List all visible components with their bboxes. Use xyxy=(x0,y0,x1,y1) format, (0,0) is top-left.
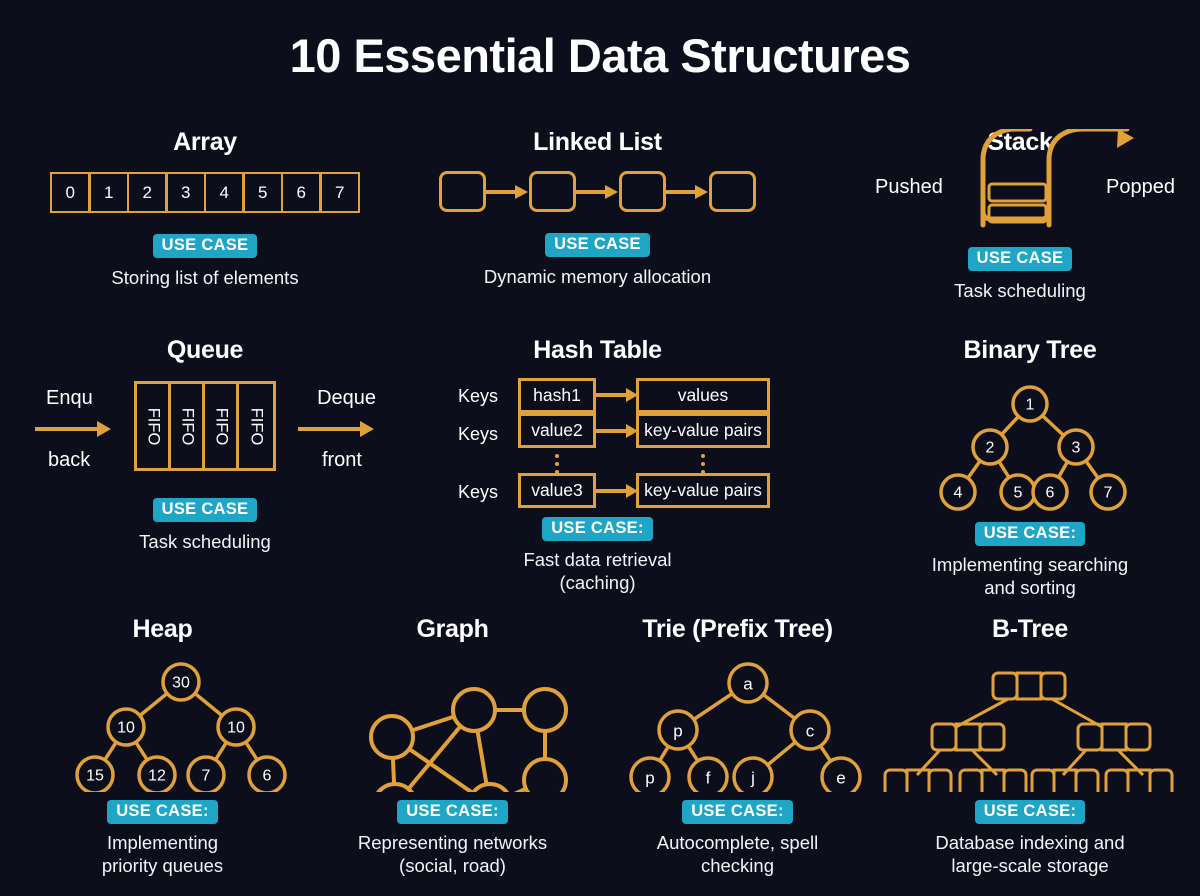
card-stack: Stack Pushed Popped USE CASE Task schedu… xyxy=(845,128,1195,302)
page-title: 10 Essential Data Structures xyxy=(0,28,1200,83)
usecase-desc-trie-1: Autocomplete, spell xyxy=(600,831,875,854)
heap-node-label: 12 xyxy=(148,768,166,785)
binary-tree-diagram: 1 2 3 4 5 6 7 xyxy=(860,379,1200,514)
array-diagram: 0 1 2 3 4 5 6 7 xyxy=(10,172,400,213)
card-title-hash-table: Hash Table xyxy=(400,336,795,365)
card-heap: Heap 30 10 10 xyxy=(20,615,305,877)
graph-diagram xyxy=(310,657,595,792)
trie-node-label: c xyxy=(805,722,814,741)
graph-node xyxy=(453,689,495,731)
card-array: Array 0 1 2 3 4 5 6 7 USE CASE Storing l… xyxy=(10,128,400,289)
stack-label-pushed: Pushed xyxy=(875,176,943,199)
heap-node-label: 10 xyxy=(117,720,135,737)
linked-list-node xyxy=(529,171,576,212)
linked-list-diagram xyxy=(400,171,795,212)
usecase-desc-binary-tree-2: and sorting xyxy=(860,576,1200,599)
btree-node-root xyxy=(993,673,1065,699)
trie-node-label: a xyxy=(743,675,753,694)
queue-cell: FIFO xyxy=(137,384,171,468)
usecase-wrap-binary-tree: USE CASE: xyxy=(860,522,1200,546)
usecase-desc-graph-1: Representing networks xyxy=(310,831,595,854)
hash-key-label: Keys xyxy=(458,386,498,407)
usecase-desc-linked-list: Dynamic memory allocation xyxy=(400,265,795,288)
stack-plate xyxy=(989,184,1046,201)
card-binary-tree: Binary Tree 1 2 3 xyxy=(860,336,1200,599)
queue-cell: FIFO xyxy=(239,384,273,468)
arrow-right-icon xyxy=(576,185,619,199)
queue-cell: FIFO xyxy=(171,384,205,468)
card-queue: Queue FIFO FIFO FIFO FIFO Enqu back Dequ… xyxy=(10,336,400,553)
stack-label-popped: Popped xyxy=(1106,176,1175,199)
card-title-heap: Heap xyxy=(20,615,305,644)
heap-node-label: 30 xyxy=(172,675,190,692)
usecase-desc-heap-1: Implementing xyxy=(20,831,305,854)
array-cell: 5 xyxy=(242,172,283,213)
tree-node-label: 1 xyxy=(1026,397,1035,414)
btree-node-leaf xyxy=(960,770,1026,792)
usecase-wrap-btree: USE CASE: xyxy=(880,800,1180,824)
linked-list-node xyxy=(439,171,486,212)
binary-tree-svg: 1 2 3 4 5 6 7 xyxy=(900,379,1160,514)
hash-key-label: Keys xyxy=(458,424,498,445)
trie-node-label: j xyxy=(750,769,755,788)
graph-node xyxy=(524,689,566,731)
card-graph: Graph xyxy=(310,615,595,877)
btree-diagram xyxy=(880,657,1180,792)
card-trie: Trie (Prefix Tree) a p xyxy=(600,615,875,877)
queue-diagram: FIFO FIFO FIFO FIFO Enqu back Deque fron… xyxy=(10,381,400,481)
linked-list-node xyxy=(619,171,666,212)
linked-list-row xyxy=(400,171,795,212)
array-cell: 2 xyxy=(127,172,168,213)
usecase-desc-queue: Task scheduling xyxy=(10,530,400,553)
tree-node-label: 2 xyxy=(986,440,995,457)
hash-key-box: value3 xyxy=(518,473,596,508)
array-cell: 6 xyxy=(281,172,322,213)
usecase-wrap-graph: USE CASE: xyxy=(310,800,595,824)
card-title-trie: Trie (Prefix Tree) xyxy=(600,615,875,644)
trie-node-label: p xyxy=(645,769,654,788)
ellipsis-vertical-icon xyxy=(555,454,559,478)
hash-key-label: Keys xyxy=(458,482,498,503)
hash-value-box: key-value pairs xyxy=(636,473,770,508)
array-cell: 1 xyxy=(88,172,129,213)
stack-diagram: Pushed Popped xyxy=(845,129,1195,234)
linked-list-node xyxy=(709,171,756,212)
hash-value-box: values xyxy=(636,378,770,413)
trie-diagram: a p c p f j e xyxy=(600,657,875,792)
queue-label-back: back xyxy=(48,449,90,472)
status-badge: USE CASE: xyxy=(975,522,1086,546)
array-cell: 4 xyxy=(204,172,245,213)
usecase-desc-graph-2: (social, road) xyxy=(310,854,595,877)
card-title-graph: Graph xyxy=(310,615,595,644)
queue-cell-label: FIFO xyxy=(211,407,230,445)
usecase-wrap-array: USE CASE xyxy=(10,234,400,258)
usecase-wrap-heap: USE CASE: xyxy=(20,800,305,824)
usecase-desc-array: Storing list of elements xyxy=(10,266,400,289)
status-badge: USE CASE xyxy=(153,498,258,522)
tree-node-label: 7 xyxy=(1104,485,1113,502)
infographic-page: 10 Essential Data Structures Array 0 1 2… xyxy=(0,0,1200,896)
usecase-desc-heap-2: priority queues xyxy=(20,854,305,877)
array-cell: 3 xyxy=(165,172,206,213)
queue-box: FIFO FIFO FIFO FIFO xyxy=(134,381,276,471)
status-badge: USE CASE: xyxy=(542,517,653,541)
btree-svg xyxy=(880,657,1180,792)
queue-cell-label: FIFO xyxy=(177,407,196,445)
status-badge: USE CASE xyxy=(545,233,650,257)
ellipsis-vertical-icon xyxy=(701,454,705,478)
queue-label-front: front xyxy=(322,449,362,472)
status-badge: USE CASE xyxy=(153,234,258,258)
hash-key-box: hash1 xyxy=(518,378,596,413)
graph-node xyxy=(469,784,511,792)
array-cell: 0 xyxy=(50,172,91,213)
arrow-right-icon xyxy=(298,421,376,437)
usecase-desc-btree-1: Database indexing and xyxy=(880,831,1180,854)
status-badge: USE CASE xyxy=(968,247,1073,271)
array-cell: 7 xyxy=(319,172,360,213)
status-badge: USE CASE: xyxy=(975,800,1086,824)
usecase-desc-btree-2: large-scale storage xyxy=(880,854,1180,877)
tree-node-label: 6 xyxy=(1046,485,1055,502)
heap-node-label: 7 xyxy=(201,768,210,785)
queue-cell: FIFO xyxy=(205,384,239,468)
trie-node-label: e xyxy=(836,769,845,788)
queue-label-dequeue: Deque xyxy=(317,387,376,410)
queue-cell-label: FIFO xyxy=(143,407,162,445)
card-title-binary-tree: Binary Tree xyxy=(860,336,1200,365)
status-badge: USE CASE: xyxy=(397,800,508,824)
btree-node-internal xyxy=(932,724,1004,750)
heap-diagram: 30 10 10 15 12 7 6 xyxy=(20,657,305,792)
usecase-desc-trie-2: checking xyxy=(600,854,875,877)
card-title-linked-list: Linked List xyxy=(400,128,795,157)
tree-node-label: 3 xyxy=(1072,440,1081,457)
arrow-right-icon xyxy=(596,388,638,402)
arrow-right-icon xyxy=(596,484,638,498)
graph-node xyxy=(524,759,566,792)
arrow-right-icon xyxy=(666,185,709,199)
card-btree: B-Tree xyxy=(880,615,1180,877)
card-linked-list: Linked List USE CASE Dynamic memory allo… xyxy=(400,128,795,288)
usecase-wrap-linked-list: USE CASE xyxy=(400,233,795,257)
heap-node-label: 10 xyxy=(227,720,245,737)
hash-table-diagram: Keys Keys Keys hash1 value2 value3 value… xyxy=(400,377,795,509)
trie-svg: a p c p f j e xyxy=(613,657,863,792)
queue-label-enqueue: Enqu xyxy=(46,387,93,410)
status-badge: USE CASE: xyxy=(107,800,218,824)
arrow-right-icon xyxy=(596,424,638,438)
usecase-wrap-queue: USE CASE xyxy=(10,498,400,522)
btree-node-internal xyxy=(1078,724,1150,750)
usecase-desc-hash-table-1: Fast data retrieval xyxy=(400,548,795,571)
hash-key-box: value2 xyxy=(518,413,596,448)
hash-value-box: key-value pairs xyxy=(636,413,770,448)
card-hash-table: Hash Table Keys Keys Keys hash1 value2 v… xyxy=(400,336,795,594)
trie-node-label: p xyxy=(673,722,682,741)
card-title-queue: Queue xyxy=(10,336,400,365)
heap-svg: 30 10 10 15 12 7 6 xyxy=(38,657,288,792)
array-row: 0 1 2 3 4 5 6 7 xyxy=(10,172,400,213)
card-title-btree: B-Tree xyxy=(880,615,1180,644)
arrow-right-icon xyxy=(35,421,113,437)
usecase-wrap-trie: USE CASE: xyxy=(600,800,875,824)
tree-node-label: 5 xyxy=(1014,485,1023,502)
heap-node-label: 6 xyxy=(262,768,271,785)
usecase-desc-hash-table-2: (caching) xyxy=(400,571,795,594)
tree-node-label: 4 xyxy=(954,485,963,502)
card-title-array: Array xyxy=(10,128,400,157)
queue-cell-label: FIFO xyxy=(247,407,266,445)
trie-node-label: f xyxy=(705,769,710,788)
arrow-head-icon xyxy=(1117,129,1134,148)
arrow-right-icon xyxy=(486,185,529,199)
usecase-wrap-stack: USE CASE xyxy=(845,247,1195,271)
btree-node-leaf xyxy=(1106,770,1172,792)
graph-svg xyxy=(328,657,578,792)
graph-node xyxy=(371,716,413,758)
status-badge: USE CASE: xyxy=(682,800,793,824)
usecase-desc-stack: Task scheduling xyxy=(845,279,1195,302)
usecase-desc-binary-tree-1: Implementing searching xyxy=(860,553,1200,576)
heap-node-label: 15 xyxy=(86,768,104,785)
usecase-wrap-hash-table: USE CASE: xyxy=(400,517,795,541)
